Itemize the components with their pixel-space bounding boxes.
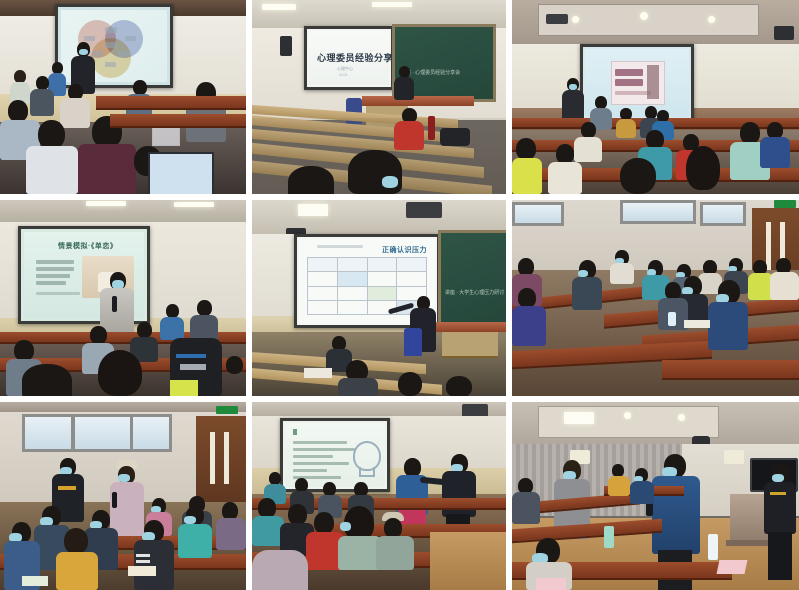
audience-person — [572, 260, 602, 310]
audience-head — [295, 478, 308, 492]
audience-body — [708, 302, 748, 350]
audience-person — [616, 158, 662, 194]
student-mask — [184, 516, 196, 524]
slide-surface: 心理委员经验分享 心理中心 2021 — [309, 31, 389, 85]
audience-body — [760, 137, 790, 168]
audience-head — [556, 144, 574, 164]
audience-body — [252, 550, 308, 590]
table-cell — [308, 258, 338, 272]
speaker-presenter — [394, 66, 414, 100]
audience-person — [442, 376, 476, 396]
audience-head — [14, 340, 34, 361]
ceiling-downlight — [708, 16, 715, 23]
backpack-logo — [180, 364, 206, 370]
seated-participant — [608, 464, 630, 496]
sleeve-stripes — [136, 560, 150, 563]
audience-head — [226, 356, 243, 374]
audience-person — [708, 280, 748, 350]
slide-label-right — [125, 36, 136, 41]
collage-photo-bottom-right — [512, 402, 799, 590]
water-bottle — [668, 312, 676, 326]
slide-bullet-marker — [293, 429, 297, 435]
audience-head — [288, 504, 307, 525]
facilitator-body — [442, 471, 476, 517]
ceiling-downlight — [624, 412, 631, 419]
ceiling-downlight — [572, 16, 579, 23]
window — [700, 202, 746, 226]
table-row — [308, 272, 427, 286]
microphone — [112, 492, 117, 508]
table-cell — [367, 272, 397, 286]
student-backpack — [394, 121, 424, 150]
audience-head — [323, 482, 336, 496]
door — [196, 416, 246, 508]
desk-row — [96, 96, 246, 110]
seated-student — [216, 502, 246, 550]
seated-student — [134, 520, 174, 590]
seated-participant — [512, 478, 540, 524]
floor — [430, 532, 506, 590]
audience-head — [258, 498, 276, 518]
student-mask — [118, 474, 130, 482]
ceiling-downlight — [640, 12, 648, 20]
audience-head — [516, 138, 536, 160]
photo-content — [512, 0, 799, 194]
photo-collage: 心理委员经验分享 心理中心 2021 讲座 · 心理委员经验分享会 — [0, 0, 799, 590]
audience-hair — [686, 146, 720, 190]
slide-body-line — [293, 455, 333, 458]
foreground-student — [288, 166, 334, 194]
audience-person — [616, 108, 636, 138]
audience-head — [166, 304, 179, 318]
slide-label-upper — [105, 27, 117, 33]
audience-head — [740, 122, 760, 144]
audience-head — [36, 76, 49, 90]
audience-body — [160, 317, 184, 340]
audience-head — [314, 512, 334, 534]
slide-label-center — [105, 42, 117, 48]
audience-body — [616, 119, 636, 138]
ceiling-light — [298, 204, 328, 216]
student-body — [216, 518, 246, 550]
audience-person — [222, 356, 246, 396]
jacket-logo — [58, 486, 76, 490]
slide-body-line — [36, 274, 70, 278]
table-cell — [308, 272, 338, 286]
white-notebook — [304, 368, 332, 378]
desk-row — [662, 360, 799, 380]
foreground-student — [348, 150, 402, 194]
audience-body — [572, 277, 602, 310]
table-cell — [397, 258, 427, 272]
seated-student — [394, 108, 424, 150]
audience-body — [770, 272, 799, 300]
audience-person — [190, 300, 218, 342]
notebook — [684, 320, 710, 328]
audience-person — [512, 138, 542, 194]
audience-body — [376, 536, 414, 570]
audience-head — [518, 288, 536, 308]
window — [130, 414, 172, 452]
lightbulb-base — [359, 467, 375, 477]
slide-sidebar — [647, 65, 659, 99]
chalkboard-text: 讲座 · 大学生心理压力研讨 — [445, 289, 504, 296]
slide-body-line — [293, 441, 347, 444]
photo-content: 心理委员经验分享 心理中心 2021 讲座 · 心理委员经验分享会 — [252, 0, 506, 194]
presenter-mask — [79, 49, 88, 55]
table-cell — [367, 286, 397, 300]
slide-body-line — [293, 469, 327, 472]
chalkboard: 讲座 · 大学生心理压力研讨 — [438, 230, 506, 326]
audience-body — [26, 146, 78, 194]
door-glass-strip — [210, 432, 215, 484]
speaker-body — [394, 77, 414, 100]
audience-head — [398, 372, 422, 396]
ceiling-projector — [546, 14, 568, 24]
door-glass-strip — [224, 432, 229, 484]
audience-head — [581, 122, 596, 138]
photo-content — [252, 402, 506, 590]
table-row — [308, 286, 427, 300]
audience-body — [338, 378, 378, 396]
photo-content — [512, 200, 799, 396]
audience-head — [90, 326, 107, 344]
audience-person — [26, 120, 78, 194]
desk-row — [110, 114, 246, 128]
wall-speaker — [280, 36, 292, 56]
audience-mask — [578, 270, 588, 277]
audience-person — [394, 372, 426, 396]
slide-heading-line2 — [615, 79, 643, 86]
name-card — [536, 578, 566, 590]
audience-person — [10, 70, 30, 104]
ceiling — [0, 402, 246, 412]
audience-person — [610, 250, 634, 284]
audience-head — [133, 80, 147, 95]
audience-body — [512, 158, 542, 194]
paper-sheet — [22, 576, 48, 586]
slide-subtext — [615, 91, 651, 95]
microphone — [112, 296, 117, 312]
audience-body — [548, 162, 582, 194]
slide-breadcrumb — [317, 245, 363, 248]
audience-person — [96, 350, 146, 396]
slide-label-bottom — [105, 62, 116, 67]
table-cell — [397, 272, 427, 286]
audience-body — [610, 263, 634, 284]
window — [512, 202, 564, 226]
table-cell — [308, 286, 338, 300]
photo-content: 情景模拟·《单恋》 — [0, 200, 246, 396]
audience-person — [682, 146, 726, 194]
lectern-table — [362, 96, 474, 106]
photo-content — [512, 402, 799, 590]
participant-mask — [772, 474, 784, 482]
student-head — [64, 528, 88, 554]
slide-label-lowright — [118, 51, 129, 57]
backpack-strap — [176, 354, 206, 358]
water-bottle — [604, 526, 614, 548]
audience-mask — [340, 522, 351, 531]
seated-participant — [630, 468, 654, 504]
audience-person — [760, 122, 790, 168]
slide-body-line — [293, 448, 355, 451]
slide-body-line — [36, 267, 74, 271]
audience-head — [384, 518, 402, 538]
collage-photo-middle-right — [512, 200, 799, 396]
collage-photo-top-right — [512, 0, 799, 194]
window — [22, 414, 74, 452]
window — [72, 414, 134, 452]
jacket-logo — [770, 492, 786, 495]
audience-hair — [98, 350, 142, 396]
student-head — [288, 166, 334, 194]
ceiling-downlight — [678, 414, 685, 421]
name-card — [717, 560, 748, 574]
table-cell — [308, 300, 338, 314]
collage-photo-middle-left: 情景模拟·《单恋》 — [0, 200, 246, 396]
audience-head — [22, 364, 72, 396]
participant-legs — [768, 532, 792, 580]
slide-title: 心理委员经验分享 — [317, 51, 393, 64]
standing-participant-right — [764, 464, 796, 580]
collage-photo-bottom-center — [252, 402, 506, 590]
photo-content — [0, 0, 246, 194]
audience-person — [338, 360, 378, 396]
laptop-screen — [148, 152, 214, 194]
seated-student — [178, 506, 212, 558]
slide-heading-line1 — [615, 69, 643, 76]
water-bottle — [708, 534, 718, 560]
slide-body-line — [36, 281, 66, 285]
hi-vis-band — [170, 380, 198, 396]
ceiling-light — [262, 4, 296, 10]
projection-screen: 心理委员经验分享 心理中心 2021 — [304, 26, 394, 90]
table-cell — [337, 300, 367, 314]
seated-student — [56, 528, 98, 590]
audience-head — [137, 322, 152, 338]
audience-head — [197, 300, 212, 316]
audience-person — [22, 364, 76, 396]
student-body — [56, 552, 98, 590]
participant-body — [764, 482, 796, 534]
collage-photo-top-center: 心理委员经验分享 心理中心 2021 讲座 · 心理委员经验分享会 — [252, 0, 506, 194]
slide-body-line — [293, 462, 349, 465]
audience-person-backpack — [170, 338, 222, 396]
audience-person — [186, 82, 226, 142]
photo-content: 正确认识压力 — [252, 200, 506, 396]
participant-body — [608, 476, 630, 496]
sleeve-stripes — [136, 554, 150, 557]
ceiling-light — [86, 201, 126, 206]
ceiling-light — [564, 412, 594, 424]
audience-head — [446, 376, 472, 396]
paper-sheet — [128, 566, 156, 576]
lectern-table — [436, 322, 506, 332]
slide-body-line — [36, 260, 74, 264]
audience-person — [160, 304, 184, 340]
audience-person — [548, 144, 582, 194]
ceiling-projector — [406, 202, 442, 218]
audience-body — [512, 306, 546, 346]
participant-body — [512, 492, 540, 524]
exit-sign — [774, 200, 796, 208]
student-body — [178, 524, 212, 558]
audience-person — [512, 288, 546, 346]
slide-caption-line — [36, 292, 80, 295]
thermos-bottle — [428, 116, 435, 140]
photo-content — [0, 402, 246, 590]
audience-head — [8, 100, 28, 122]
student-body — [134, 540, 174, 590]
slide-title: 正确认识压力 — [382, 245, 427, 255]
chair — [404, 328, 422, 356]
audience-person — [252, 550, 308, 590]
audience-head — [38, 120, 65, 149]
ceiling-light — [174, 202, 214, 207]
exit-sign — [216, 406, 238, 414]
wall-speaker — [774, 26, 794, 40]
audience-person — [376, 512, 414, 570]
slide-subtitle-line2: 2021 — [339, 72, 348, 77]
student-mask — [382, 176, 398, 188]
table-cell — [337, 258, 367, 272]
participant-body — [630, 481, 654, 504]
table-cell — [367, 258, 397, 272]
ceiling-light — [372, 2, 412, 7]
collage-photo-top-left — [0, 0, 246, 194]
collage-photo-bottom-left — [0, 402, 246, 590]
wall-sconce — [724, 450, 744, 464]
lectern-base — [442, 332, 498, 358]
collage-photo-middle-center: 正确认识压力 — [252, 200, 506, 396]
slide-label-left — [84, 36, 95, 41]
table-cell — [337, 272, 367, 286]
audience-head — [620, 158, 656, 194]
black-bag — [440, 128, 470, 146]
audience-person — [770, 258, 799, 300]
table-cell — [337, 286, 367, 300]
window — [620, 200, 696, 224]
table-header-row — [308, 258, 427, 272]
slide-title: 情景模拟·《单恋》 — [58, 241, 117, 251]
